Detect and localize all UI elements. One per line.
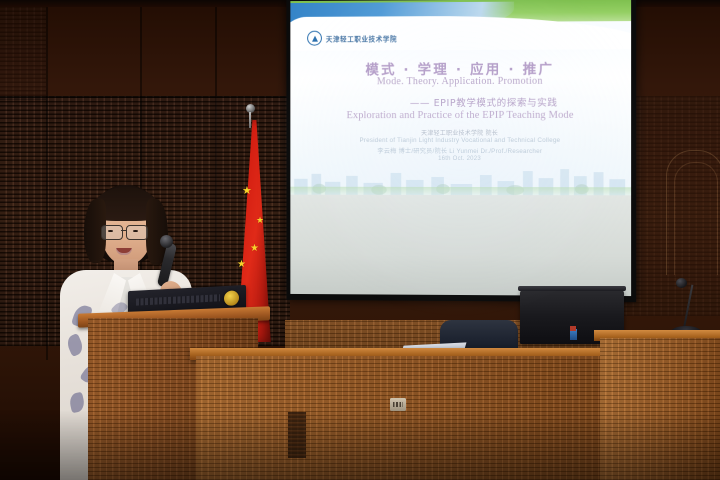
- slide-subtitle-en: Exploration and Practice of the EPIP Tea…: [290, 110, 631, 121]
- institution-logo-text: 天津轻工职业技术学院: [326, 33, 397, 43]
- projection-screen: 天津轻工职业技术学院 模式 · 学理 · 应用 · 推广 Mode. Theor…: [286, 0, 636, 302]
- projection-blank-area: [290, 194, 631, 296]
- presentation-slide: 天津轻工职业技术学院 模式 · 学理 · 应用 · 推广 Mode. Theor…: [290, 0, 631, 195]
- institution-logo: 天津轻工职业技术学院: [307, 30, 397, 45]
- eyeglasses-right-lens: [126, 225, 148, 240]
- flag-star-1: ★: [256, 216, 264, 225]
- slide-title-en: Mode. Theory. Application. Promotion: [290, 75, 631, 87]
- presentation-photo: 天津轻工职业技术学院 模式 · 学理 · 应用 · 推广 Mode. Theor…: [0, 0, 720, 480]
- wall-seam-horizontal: [0, 96, 290, 98]
- air-vent-grille: [288, 412, 306, 458]
- wall-acoustic-panel-mid: [0, 0, 46, 100]
- right-desk: [600, 338, 720, 480]
- slide-subtitle-cn: —— EPIP教学模式的探索与实践: [290, 95, 631, 110]
- decorative-arch-inner: [674, 162, 718, 275]
- microphone-capsule: [676, 278, 687, 288]
- slide-presenter-cn: 天津轻工职业技术学院 院长: [290, 128, 631, 137]
- laptop-logo-badge: [224, 290, 239, 306]
- projection-surface: 天津轻工职业技术学院 模式 · 学理 · 应用 · 推广 Mode. Theor…: [290, 0, 631, 296]
- flag-star-large: ★: [242, 186, 252, 197]
- monitor-red-marker: [570, 326, 576, 331]
- laptop-keyboard: [136, 294, 220, 305]
- front-desk: [196, 356, 600, 480]
- slide-date: 16th Oct. 2023: [290, 156, 631, 162]
- right-desk-texture: [600, 338, 720, 480]
- flag-pole: [249, 112, 251, 128]
- eyeglasses-left-lens: [101, 225, 123, 240]
- mountain-triangle-emblem-icon: [307, 31, 322, 46]
- slide-presenter-role-en: President of Tianjin Light Industry Voca…: [290, 137, 631, 144]
- microphone-stem: [683, 285, 694, 329]
- flag-star-3: ★: [237, 260, 246, 270]
- eyeglasses-bridge: [121, 230, 126, 231]
- power-outlet: [390, 398, 406, 411]
- flag-star-2: ★: [250, 244, 259, 254]
- front-desk-texture: [196, 356, 600, 480]
- slide-presenter-name: 李云梅 博士/研究员/院长 Li Yunmei Dr./Prof./Resear…: [290, 146, 631, 155]
- monitor-top-edge: [518, 286, 626, 291]
